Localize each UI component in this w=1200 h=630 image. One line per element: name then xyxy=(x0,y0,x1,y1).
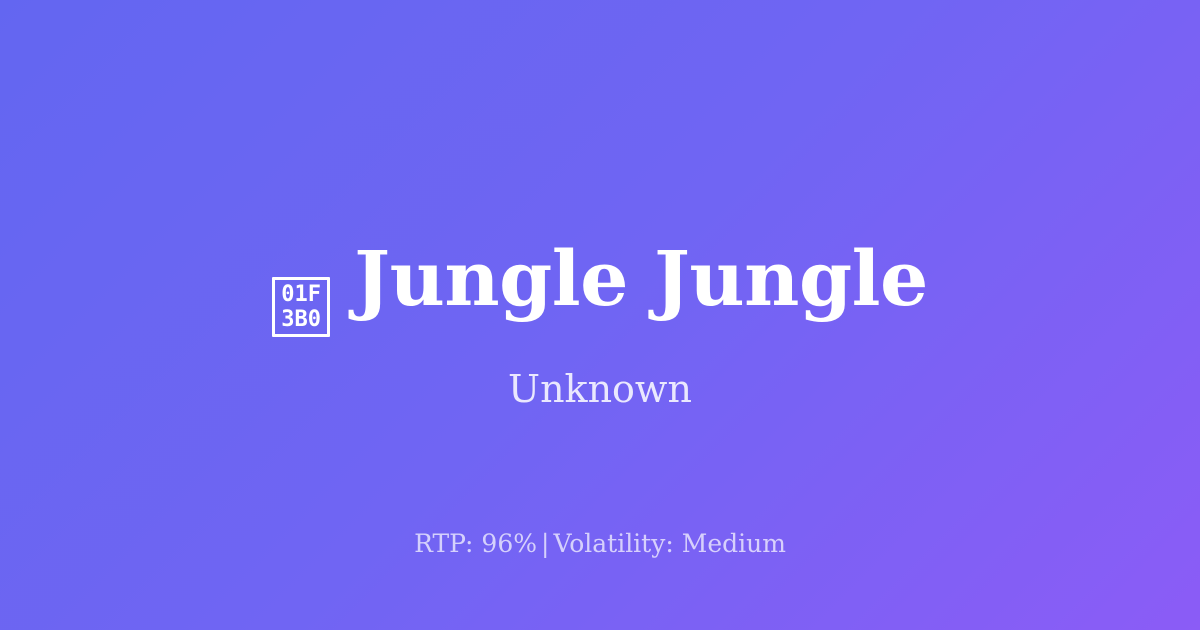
provider-subtitle: Unknown xyxy=(0,366,1200,412)
rtp-value: RTP: 96% xyxy=(414,529,537,558)
game-stats-line: RTP: 96%|Volatility: Medium xyxy=(0,528,1200,560)
slot-machine-icon-codepoint-high: 01F xyxy=(281,282,321,307)
title-row: 01F 3B0 Jungle Jungle xyxy=(0,239,1200,341)
slot-machine-icon: 01F 3B0 xyxy=(272,277,330,337)
og-share-card: 01F 3B0 Jungle Jungle Unknown RTP: 96%|V… xyxy=(0,0,1200,630)
page-title: Jungle Jungle xyxy=(354,239,928,319)
slot-machine-icon-codepoint-low: 3B0 xyxy=(281,307,321,332)
stats-separator: | xyxy=(537,529,553,558)
volatility-value: Volatility: Medium xyxy=(553,529,785,558)
